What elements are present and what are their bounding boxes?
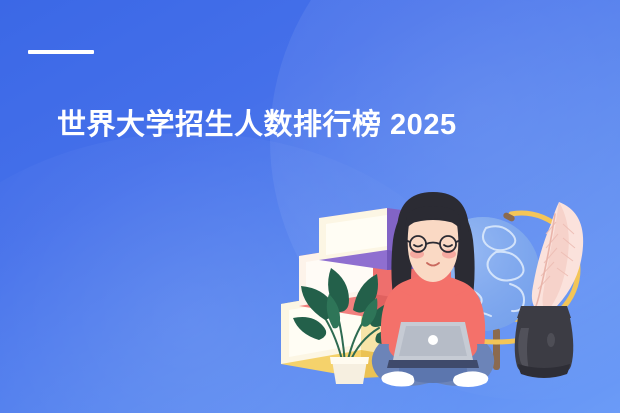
title-accent-rule: [28, 50, 94, 54]
banner-card: 世界大学招生人数排行榜 2025: [0, 0, 620, 413]
quill-feather-icon: [532, 202, 583, 314]
page-title: 世界大学招生人数排行榜 2025: [57, 107, 457, 143]
hero-illustration: [275, 178, 620, 390]
laptop-icon: [387, 322, 479, 368]
